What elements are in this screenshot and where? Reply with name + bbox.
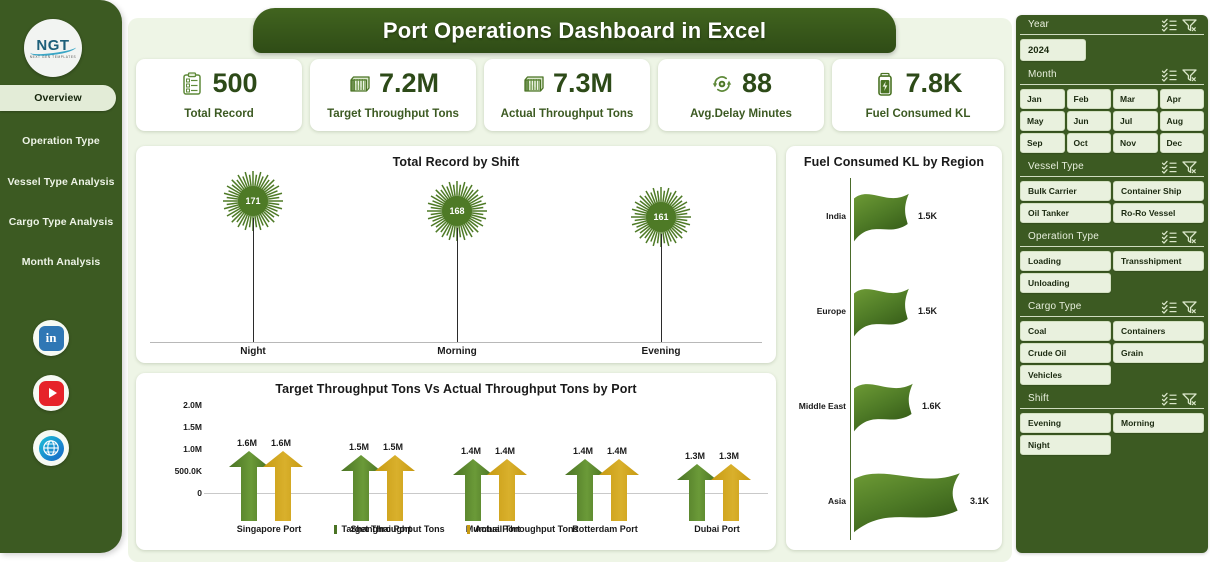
fuel-value-label: 1.5K [918,211,937,221]
youtube-icon[interactable] [33,375,69,411]
slicer-option-loading[interactable]: Loading [1020,251,1111,271]
slicer-option-dec[interactable]: Dec [1160,133,1205,153]
shift-category-label: Night [208,346,298,357]
slicer-option-label: Evening [1028,418,1061,428]
slicer-option-label: 2024 [1028,45,1049,56]
slicer-header-operation-type: Operation Type [1020,227,1204,247]
multi-select-icon[interactable] [1161,230,1178,244]
slicer-option-crude-oil[interactable]: Crude Oil [1020,343,1111,363]
port-chart-title: Target Throughput Tons Vs Actual Through… [136,373,776,396]
dashboard-root: NGT NEXT GEN TEMPLATES OverviewOperation… [0,0,1210,568]
slicer-option-label: May [1027,116,1044,126]
kpi-value: 7.2M [379,70,439,97]
sidebar-item-label: Vessel Type Analysis [7,176,114,188]
port-bar-value-label: 1.6M [261,438,301,448]
slicer-option-label: Nov [1120,138,1136,148]
port-y-tick: 1.0M [144,444,202,454]
website-icon[interactable] [33,430,69,466]
slicer-option-label: Jun [1074,116,1089,126]
slicer-option-container-ship[interactable]: Container Ship [1113,181,1204,201]
port-bar-value-label: 1.4M [597,446,637,456]
container-icon [347,72,371,96]
slicer-option-night[interactable]: Night [1020,435,1111,455]
port-bar-group: 1.3M1.3MDubai Port [662,401,772,521]
slicer-option-containers[interactable]: Containers [1113,321,1204,341]
shift-chart-axis [150,342,762,343]
kpi-value: 7.3M [553,70,613,97]
shift-stem [661,234,662,342]
slicer-option-bulk-carrier[interactable]: Bulk Carrier [1020,181,1111,201]
fuel-category-label: India [786,211,846,221]
slicer-items-shift: EveningMorningNight [1016,409,1208,459]
multi-select-icon[interactable] [1161,18,1178,32]
clear-filter-icon[interactable] [1181,160,1198,174]
fuel-category-label: Europe [786,306,846,316]
kpi-card-total-record: 500Total Record [136,59,302,131]
slicer-option-label: Bulk Carrier [1028,186,1077,196]
slicer-option-ro-ro-vessel[interactable]: Ro-Ro Vessel [1113,203,1204,223]
kpi-value: 7.8K [905,70,962,97]
slicer-option-aug[interactable]: Aug [1160,111,1205,131]
slicer-option-nov[interactable]: Nov [1113,133,1158,153]
slicer-header-vessel-type: Vessel Type [1020,157,1204,177]
chart-fuel-consumed-by-region: Fuel Consumed KL by Region India1.5KEuro… [786,146,1002,550]
slicer-option-label: Vehicles [1028,370,1062,380]
slicer-title: Vessel Type [1028,161,1158,172]
multi-select-icon[interactable] [1161,160,1178,174]
shift-stem [253,218,254,342]
shift-chart-plot: 171Night168Morning161Evening [136,146,776,363]
slicer-option-sep[interactable]: Sep [1020,133,1065,153]
slicer-option-apr[interactable]: Apr [1160,89,1205,109]
kpi-value: 88 [742,70,772,97]
kpi-card-actual-throughput-tons: 7.3MActual Throughput Tons [484,59,650,131]
battery-icon [873,72,897,96]
sidebar-item-month-analysis[interactable]: Month Analysis [0,249,122,275]
multi-select-icon[interactable] [1161,68,1178,82]
shift-value-label: 168 [426,206,488,216]
slicer-header-cargo-type: Cargo Type [1020,297,1204,317]
slicer-title: Month [1028,69,1158,80]
port-bar-actual [710,464,752,521]
fuel-value-label: 3.1K [970,496,989,506]
legend-swatch-icon [467,525,470,534]
sidebar-item-label: Month Analysis [22,256,101,268]
port-bar-actual [374,455,416,521]
shift-category-label: Evening [616,346,706,357]
kpi-value: 500 [212,70,257,97]
port-legend-item: Actual Throughput Tons [467,524,579,534]
fuel-row: Europe1.5K [786,283,1002,341]
port-bar-value-label: 1.3M [709,451,749,461]
shift-value-label: 171 [222,196,284,206]
fuel-row: Asia3.1K [786,466,1002,538]
multi-select-icon[interactable] [1161,300,1178,314]
slicer-option-label: Unloading [1028,278,1070,288]
slicer-option-evening[interactable]: Evening [1020,413,1111,433]
slicer-option-label: Containers [1121,326,1165,336]
clear-filter-icon[interactable] [1181,300,1198,314]
slicer-option-label: Mar [1120,94,1135,104]
slicer-title: Operation Type [1028,231,1158,242]
clear-filter-icon[interactable] [1181,230,1198,244]
port-bar-group: 1.4M1.4MMumbai Port [438,401,548,521]
shift-stem [457,228,458,342]
slicer-option-label: Jan [1027,94,1042,104]
linkedin-icon[interactable]: in [33,320,69,356]
kpi-card-target-throughput-tons: 7.2MTarget Throughput Tons [310,59,476,131]
clear-filter-icon[interactable] [1181,18,1198,32]
kpi-label: Fuel Consumed KL [866,108,971,120]
slicer-option-morning[interactable]: Morning [1113,413,1204,433]
port-bar-value-label: 1.4M [485,446,525,456]
slicer-option-label: Night [1028,440,1050,450]
slicer-option-mar[interactable]: Mar [1113,89,1158,109]
fuel-category-label: Asia [786,496,846,506]
slicer-option-label: Container Ship [1121,186,1181,196]
clear-filter-icon[interactable] [1181,68,1198,82]
kpi-label: Target Throughput Tons [327,108,459,120]
slicer-option-label: Oct [1074,138,1088,148]
slicer-option-label: Feb [1074,94,1089,104]
sidebar-item-label: Cargo Type Analysis [9,216,114,228]
port-bar-group: 1.6M1.6MSingapore Port [214,401,324,521]
left-sidebar: NGT NEXT GEN TEMPLATES OverviewOperation… [0,0,122,553]
fuel-flag-marker [852,188,910,251]
slicer-option-oct[interactable]: Oct [1067,133,1112,153]
slicer-option-feb[interactable]: Feb [1067,89,1112,109]
slicer-option-label: Sep [1027,138,1043,148]
kpi-label: Actual Throughput Tons [501,108,634,120]
fuel-row: Middle East1.6K [786,378,1002,436]
port-legend-item: Target Throughput Tons [334,524,445,534]
fuel-value-label: 1.6K [922,401,941,411]
slicer-title: Cargo Type [1028,301,1158,312]
fuel-row: India1.5K [786,188,1002,246]
dashboard-title-bar: Port Operations Dashboard in Excel [253,8,896,53]
fuel-chart-title: Fuel Consumed KL by Region [786,146,1002,169]
slicer-option-label: Oil Tanker [1028,208,1069,218]
slicer-option-jul[interactable]: Jul [1113,111,1158,131]
slicer-items-vessel-type: Bulk CarrierContainer ShipOil TankerRo-R… [1016,177,1208,227]
port-y-tick: 1.5M [144,422,202,432]
container-icon [521,72,545,96]
kpi-label: Avg.Delay Minutes [690,108,792,120]
slicer-option-label: Aug [1167,116,1184,126]
slicer-option-label: Apr [1167,94,1182,104]
slicer-option-label: Jul [1120,116,1132,126]
slicer-option-label: Ro-Ro Vessel [1121,208,1175,218]
fuel-category-label: Middle East [786,401,846,411]
slicer-option-2024[interactable]: 2024 [1020,39,1086,61]
brand-logo: NGT NEXT GEN TEMPLATES [24,19,82,77]
multi-select-icon[interactable] [1161,392,1178,406]
legend-label: Target Throughput Tons [342,524,445,534]
sidebar-item-operation-type[interactable]: Operation Type [0,128,122,154]
slicer-option-label: Dec [1167,138,1183,148]
slicer-option-jan[interactable]: Jan [1020,89,1065,109]
slicer-title: Year [1028,19,1158,30]
slicer-header-year: Year [1020,15,1204,35]
kpi-card-avg-delay-minutes: 88Avg.Delay Minutes [658,59,824,131]
shift-category-label: Morning [412,346,502,357]
slicer-header-shift: Shift [1020,389,1204,409]
slicer-option-coal[interactable]: Coal [1020,321,1111,341]
port-chart-legend: Target Throughput TonsActual Throughput … [136,524,776,534]
port-bar-actual [262,451,304,521]
slicer-option-unloading[interactable]: Unloading [1020,273,1111,293]
slicer-option-oil-tanker[interactable]: Oil Tanker [1020,203,1111,223]
slicer-option-transshipment[interactable]: Transshipment [1113,251,1204,271]
slicer-option-label: Crude Oil [1028,348,1066,358]
kpi-label: Total Record [184,108,253,120]
sidebar-item-label: Overview [34,92,82,104]
slicer-option-jun[interactable]: Jun [1067,111,1112,131]
fuel-flag-marker [852,283,910,346]
slicer-option-vehicles[interactable]: Vehicles [1020,365,1111,385]
kpi-card-fuel-consumed-kl: 7.8KFuel Consumed KL [832,59,1004,131]
legend-label: Actual Throughput Tons [475,524,579,534]
legend-swatch-icon [334,525,337,534]
slicer-items-operation-type: LoadingTransshipmentUnloading [1016,247,1208,297]
port-bar-group: 1.4M1.4MRotterdam Port [550,401,660,521]
slicer-title: Shift [1028,393,1158,404]
slicer-option-label: Morning [1121,418,1155,428]
sidebar-item-vessel-type-analysis[interactable]: Vessel Type Analysis [0,169,122,195]
page-title: Port Operations Dashboard in Excel [383,18,766,44]
port-bar-actual [598,459,640,521]
chart-target-vs-actual-by-port: Target Throughput Tons Vs Actual Through… [136,373,776,550]
sidebar-item-label: Operation Type [22,135,100,147]
slicer-option-label: Coal [1028,326,1046,336]
port-bar-actual [486,459,528,521]
slicer-items-year: 2024 [1016,35,1208,65]
delay-refresh-icon [710,72,734,96]
fuel-value-label: 1.5K [918,306,937,316]
chart-total-record-by-shift: Total Record by Shift 171Night168Morning… [136,146,776,363]
fuel-flag-marker [852,378,914,441]
sidebar-item-cargo-type-analysis[interactable]: Cargo Type Analysis [0,209,122,235]
port-bar-group: 1.5M1.5MShanghai Port [326,401,436,521]
port-y-tick: 500.0K [144,466,202,476]
slicer-items-cargo-type: CoalContainersCrude OilGrainVehicles [1016,317,1208,389]
slicer-option-may[interactable]: May [1020,111,1065,131]
slicer-option-label: Transshipment [1121,256,1181,266]
slicer-option-label: Grain [1121,348,1143,358]
slicer-header-month: Month [1020,65,1204,85]
slicer-items-month: JanFebMarAprMayJunJulAugSepOctNovDec [1016,85,1208,157]
port-y-tick: 0 [144,488,202,498]
clear-filter-icon[interactable] [1181,392,1198,406]
sidebar-item-overview[interactable]: Overview [0,85,116,111]
filter-panel: Year2024MonthJanFebMarAprMayJunJulAugSep… [1016,15,1208,553]
shift-value-label: 161 [630,212,692,222]
slicer-option-label: Loading [1028,256,1061,266]
clipboard-icon [180,72,204,96]
slicer-option-grain[interactable]: Grain [1113,343,1204,363]
fuel-flag-marker [852,466,962,543]
port-bar-value-label: 1.5M [373,442,413,452]
port-y-tick: 2.0M [144,400,202,410]
